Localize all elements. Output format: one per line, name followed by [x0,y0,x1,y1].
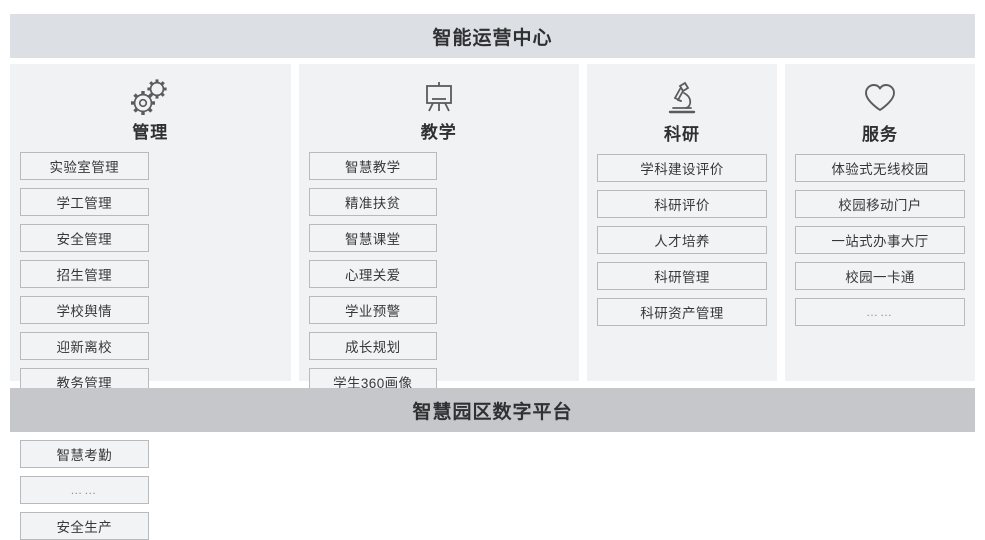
tile-item[interactable]: 心理关爱 [309,260,438,288]
bottom-banner: 智慧园区数字平台 [10,388,975,432]
tile-item-more[interactable]: …… [20,476,149,504]
heart-icon [859,78,901,118]
category-panel-research: 科研 学科建设评价 科研评价 人才培养 科研管理 科研资产管理 [587,64,777,381]
top-banner: 智能运营中心 [10,14,975,58]
category-panel-management: 管理 实验室管理 学工管理 安全管理 招生管理 学校舆情 迎新离校 教务管理 就… [10,64,291,381]
tile-item[interactable]: 学业预警 [309,296,438,324]
category-columns: 管理 实验室管理 学工管理 安全管理 招生管理 学校舆情 迎新离校 教务管理 就… [10,64,975,381]
tile-item[interactable]: 成长规划 [309,332,438,360]
tile-item[interactable]: 实验室管理 [20,152,149,180]
tile-item[interactable]: 招生管理 [20,260,149,288]
tile-item[interactable]: 体验式无线校园 [795,154,965,182]
category-title-research: 科研 [664,120,700,145]
microscope-icon [662,78,702,118]
tile-item[interactable]: 学校舆情 [20,296,149,324]
tile-item[interactable]: 智慧课堂 [309,224,438,252]
tile-item[interactable]: 科研资产管理 [597,298,767,326]
tile-item[interactable]: 智慧考勤 [20,440,149,468]
top-banner-title: 智能运营中心 [432,23,552,50]
category-panel-teaching: 教学 智慧教学 精准扶贫 智慧课堂 心理关爱 学业预警 成长规划 学生360画像… [299,64,580,381]
tile-item[interactable]: 安全生产 [20,512,149,540]
tile-list-management: 实验室管理 学工管理 安全管理 招生管理 学校舆情 迎新离校 教务管理 就业指导… [20,152,281,540]
tile-item[interactable]: 迎新离校 [20,332,149,360]
category-title-management: 管理 [132,118,168,143]
tile-item[interactable]: 科研管理 [597,262,767,290]
tile-item[interactable]: 校园一卡通 [795,262,965,290]
gears-icon [127,78,173,116]
tile-item[interactable]: 智慧教学 [309,152,438,180]
tile-item[interactable]: 科研评价 [597,190,767,218]
category-title-service: 服务 [862,120,898,145]
tile-item[interactable]: 一站式办事大厅 [795,226,965,254]
tile-list-service: 体验式无线校园 校园移动门户 一站式办事大厅 校园一卡通 …… [795,154,965,326]
tile-item[interactable]: 学工管理 [20,188,149,216]
operations-center-diagram: 智能运营中心 [0,0,985,446]
tile-item-more[interactable]: …… [795,298,965,326]
tile-item[interactable]: 校园移动门户 [795,190,965,218]
category-title-teaching: 教学 [421,118,457,143]
tile-item[interactable]: 安全管理 [20,224,149,252]
tile-item[interactable]: 人才培养 [597,226,767,254]
whiteboard-icon [418,78,460,116]
tile-item[interactable]: 学科建设评价 [597,154,767,182]
category-panel-service: 服务 体验式无线校园 校园移动门户 一站式办事大厅 校园一卡通 …… [785,64,975,381]
tile-list-research: 学科建设评价 科研评价 人才培养 科研管理 科研资产管理 [597,154,767,326]
tile-item[interactable]: 精准扶贫 [309,188,438,216]
bottom-banner-title: 智慧园区数字平台 [412,397,572,424]
